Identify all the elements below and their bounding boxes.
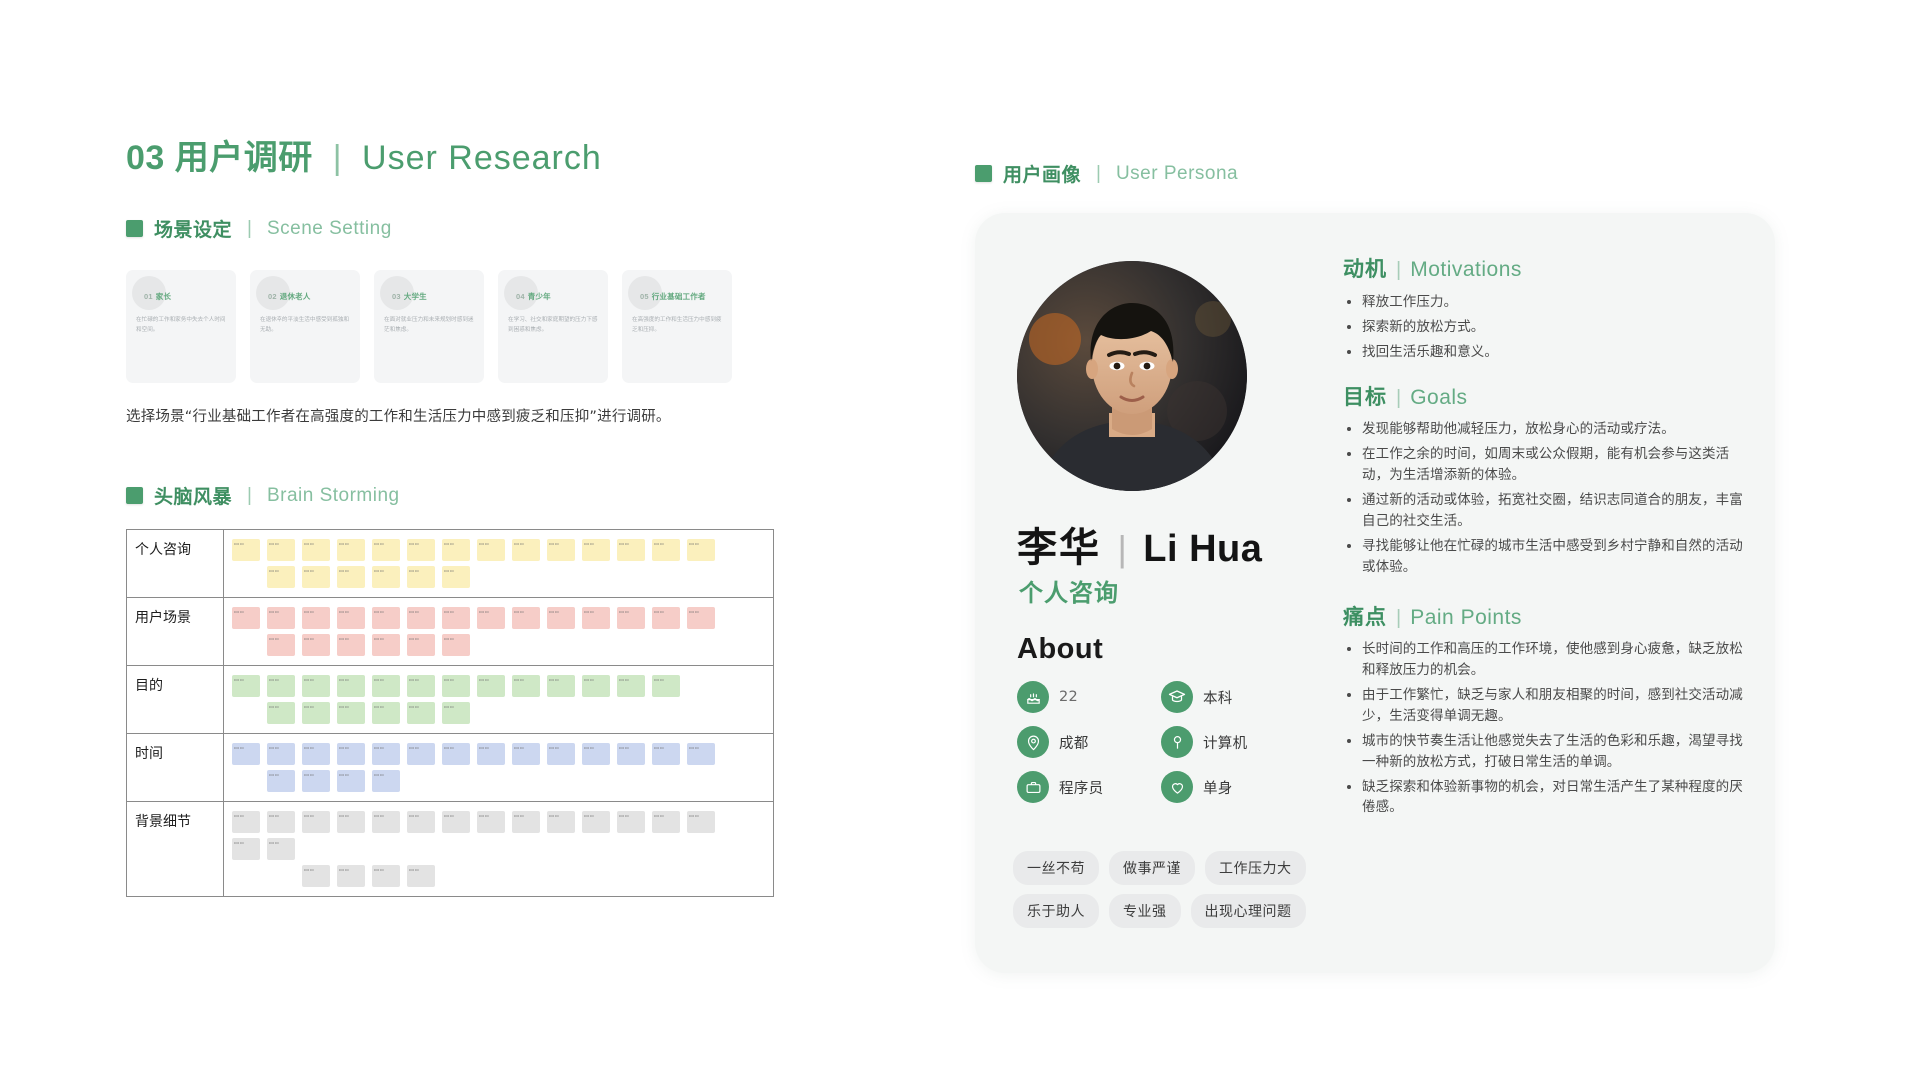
scene-card-title: 03大学生 <box>392 291 474 302</box>
scene-card-number: 03 <box>392 292 401 301</box>
sticky-note[interactable]: •••• ••• <box>372 811 400 833</box>
list-item: 城市的快节奏生活让他感觉失去了生活的色彩和乐趣，渴望寻找一种新的放松方式，打破日… <box>1362 731 1743 773</box>
sticky-note[interactable]: •••• ••• <box>232 838 260 860</box>
sticky-note[interactable]: •••• ••• <box>687 607 715 629</box>
sticky-note[interactable]: •••• ••• <box>407 702 435 724</box>
square-bullet-icon <box>126 220 143 237</box>
motivations-heading: 动机 | Motivations <box>1343 253 1743 283</box>
sticky-note-rows: •••• ••••••• ••••••• ••••••• ••••••• •••… <box>232 743 765 792</box>
about-item: 单身 <box>1161 771 1291 803</box>
scene-section-title-cn: 场景设定 <box>154 215 232 242</box>
pain-points-separator: | <box>1396 607 1401 630</box>
scene-card-description: 在高强度的工作和生活压力中感到疲乏和压抑。 <box>632 316 722 334</box>
sticky-note[interactable]: •••• ••• <box>617 539 645 561</box>
list-item: 由于工作繁忙，缺乏与家人和朋友相聚的时间，感到社交活动减少，生活变得单调无趣。 <box>1362 685 1743 727</box>
sticky-note[interactable]: •••• ••• <box>582 607 610 629</box>
sticky-note[interactable]: •••• ••• <box>477 743 505 765</box>
persona-card: 李华 | Li Hua 个人咨询 About 22本科成都计算机程序员单身 一丝… <box>975 213 1775 973</box>
brainstorm-row-label: 目的 <box>127 666 224 734</box>
sticky-note[interactable]: •••• ••• <box>442 607 470 629</box>
persona-tag[interactable]: 做事严谨 <box>1109 851 1195 885</box>
persona-tag[interactable]: 专业强 <box>1109 894 1181 928</box>
persona-name-en: Li Hua <box>1143 528 1262 570</box>
sticky-note[interactable]: •••• ••• <box>652 607 680 629</box>
table-row: 时间•••• ••••••• ••••••• ••••••• ••••••• •… <box>127 734 774 802</box>
square-bullet-icon <box>126 487 143 504</box>
sticky-note[interactable]: •••• ••• <box>582 675 610 697</box>
sticky-note[interactable]: •••• ••• <box>302 770 330 792</box>
sticky-note[interactable]: •••• ••• <box>407 865 435 887</box>
scene-card-01[interactable]: 01家长在忙碌的工作和家务中失去个人时间和空间。 <box>126 270 236 383</box>
location-pin-icon <box>1017 726 1049 758</box>
sticky-note[interactable]: •••• ••• <box>582 743 610 765</box>
about-item: 程序员 <box>1017 771 1147 803</box>
table-row: 目的•••• ••••••• ••••••• ••••••• ••••••• •… <box>127 666 774 734</box>
sticky-note[interactable]: •••• ••• <box>337 811 365 833</box>
sticky-note[interactable]: •••• ••• <box>407 539 435 561</box>
section-heading-brain-storming: 头脑风暴 | Brain Storming <box>126 482 786 509</box>
about-item: 成都 <box>1017 726 1147 758</box>
map-marker-icon <box>1161 726 1193 758</box>
sticky-note[interactable]: •••• ••• <box>372 539 400 561</box>
sticky-note[interactable]: •••• ••• <box>512 811 540 833</box>
page-title-separator: | <box>333 139 342 177</box>
brainstorm-row-label: 个人咨询 <box>127 530 224 598</box>
sticky-note-row: •••• ••••••• ••••••• ••••••• ••••••• •••… <box>232 607 765 629</box>
sticky-note[interactable]: •••• ••• <box>267 770 295 792</box>
scene-card-04[interactable]: 04青少年在学习、社交和家庭期望的压力下感到困惑和焦虑。 <box>498 270 608 383</box>
persona-name-separator: | <box>1117 528 1126 569</box>
brainstorm-note-cell: •••• ••••••• ••••••• ••••••• ••••••• •••… <box>224 530 774 598</box>
sticky-note[interactable]: •••• ••• <box>442 566 470 588</box>
page-title-en: User Research <box>362 139 602 177</box>
sticky-note[interactable]: •••• ••• <box>442 634 470 656</box>
sticky-note[interactable]: •••• ••• <box>372 770 400 792</box>
brain-section-separator: | <box>247 485 252 507</box>
list-item: 释放工作压力。 <box>1362 291 1743 314</box>
page-title-number: 03 <box>126 139 165 177</box>
scene-card-number: 04 <box>516 292 525 301</box>
goals-title-cn: 目标 <box>1343 381 1387 411</box>
sticky-note[interactable]: •••• ••• <box>407 566 435 588</box>
about-item-value: 22 <box>1059 689 1078 705</box>
list-item: 长时间的工作和高压的工作环境，使他感到身心疲惫，缺乏放松和释放压力的机会。 <box>1362 639 1743 681</box>
persona-role: 个人咨询 <box>1019 573 1119 608</box>
scene-card-description: 在退休후的平淡生活中感受到孤独和无助。 <box>260 316 350 334</box>
sticky-note[interactable]: •••• ••• <box>337 865 365 887</box>
sticky-note-row: •••• ••••••• ••• <box>232 838 765 860</box>
sticky-note[interactable]: •••• ••• <box>687 743 715 765</box>
sticky-note[interactable]: •••• ••• <box>582 811 610 833</box>
sticky-note[interactable]: •••• ••• <box>337 566 365 588</box>
sticky-note[interactable]: •••• ••• <box>302 607 330 629</box>
sticky-note[interactable]: •••• ••• <box>267 702 295 724</box>
sticky-note[interactable]: •••• ••• <box>302 743 330 765</box>
sticky-note[interactable]: •••• ••• <box>267 743 295 765</box>
sticky-note[interactable]: •••• ••• <box>337 607 365 629</box>
sticky-note[interactable]: •••• ••• <box>407 675 435 697</box>
about-item: 计算机 <box>1161 726 1291 758</box>
sticky-note[interactable]: •••• ••• <box>302 634 330 656</box>
briefcase-icon <box>1017 771 1049 803</box>
heart-icon <box>1161 771 1193 803</box>
sticky-note[interactable]: •••• ••• <box>337 743 365 765</box>
sticky-note-rows: •••• ••••••• ••••••• ••••••• ••••••• •••… <box>232 675 765 724</box>
scene-card-number: 02 <box>268 292 277 301</box>
about-attribute-grid: 22本科成都计算机程序员单身 <box>1017 681 1317 803</box>
sticky-note[interactable]: •••• ••• <box>267 634 295 656</box>
scene-card-description: 在学习、社交和家庭期望的压力下感到困惑和焦虑。 <box>508 316 598 334</box>
about-item: 本科 <box>1161 681 1291 713</box>
pain-points-title-en: Pain Points <box>1410 606 1522 630</box>
table-row: 用户场景•••• ••••••• ••••••• ••••••• •••••••… <box>127 598 774 666</box>
scene-card-title: 05行业基础工作者 <box>640 291 722 302</box>
sticky-note[interactable]: •••• ••• <box>337 634 365 656</box>
sticky-note[interactable]: •••• ••• <box>442 743 470 765</box>
persona-section-separator: | <box>1096 163 1101 185</box>
persona-tag[interactable]: 出现心理问题 <box>1191 894 1306 928</box>
sticky-note[interactable]: •••• ••• <box>407 607 435 629</box>
sticky-note[interactable]: •••• ••• <box>512 539 540 561</box>
square-bullet-icon <box>975 165 992 182</box>
sticky-note[interactable]: •••• ••• <box>267 566 295 588</box>
motivations-block: 动机 | Motivations 释放工作压力。探索新的放松方式。找回生活乐趣和… <box>1343 253 1743 367</box>
page-title-cn: 用户调研 <box>175 139 313 177</box>
sticky-note-row: •••• ••••••• ••••••• ••••••• ••••••• •••… <box>232 566 765 588</box>
sticky-note[interactable]: •••• ••• <box>372 702 400 724</box>
brain-section-title-en: Brain Storming <box>267 485 400 507</box>
persona-name: 李华 | Li Hua <box>1017 515 1262 573</box>
cake-icon <box>1017 681 1049 713</box>
sticky-note[interactable]: •••• ••• <box>302 865 330 887</box>
sticky-note[interactable]: •••• ••• <box>337 539 365 561</box>
persona-tag[interactable]: 一丝不苟 <box>1013 851 1099 885</box>
goals-list: 发现能够帮助他减轻压力，放松身心的活动或疗法。在工作之余的时间，如周末或公众假期… <box>1343 419 1743 577</box>
list-item: 发现能够帮助他减轻压力，放松身心的活动或疗法。 <box>1362 419 1743 440</box>
sticky-note[interactable]: •••• ••• <box>617 811 645 833</box>
goals-title-en: Goals <box>1410 386 1467 410</box>
sticky-note[interactable]: •••• ••• <box>267 539 295 561</box>
sticky-note[interactable]: •••• ••• <box>652 539 680 561</box>
sticky-note[interactable]: •••• ••• <box>302 566 330 588</box>
persona-tag-list: 一丝不苟做事严谨工作压力大乐于助人专业强出现心理问题 <box>1013 851 1323 928</box>
persona-section-title-cn: 用户画像 <box>1003 160 1081 187</box>
sticky-note[interactable]: •••• ••• <box>442 539 470 561</box>
sticky-note[interactable]: •••• ••• <box>267 675 295 697</box>
list-item: 通过新的活动或体验，拓宽社交圈，结识志同道合的朋友，丰富自己的社交生活。 <box>1362 490 1743 532</box>
about-item-value: 成都 <box>1059 732 1089 753</box>
scene-card-03[interactable]: 03大学生在面对就业压力和未来规划时感到迷茫和焦虑。 <box>374 270 484 383</box>
sticky-note[interactable]: •••• ••• <box>582 539 610 561</box>
brainstorm-note-cell: •••• ••••••• ••••••• ••••••• ••••••• •••… <box>224 666 774 734</box>
goals-block: 目标 | Goals 发现能够帮助他减轻压力，放松身心的活动或疗法。在工作之余的… <box>1343 381 1743 581</box>
sticky-note[interactable]: •••• ••• <box>232 811 260 833</box>
brainstorm-note-cell: •••• ••••••• ••••••• ••••••• ••••••• •••… <box>224 598 774 666</box>
sticky-note[interactable]: •••• ••• <box>337 702 365 724</box>
persona-tag[interactable]: 工作压力大 <box>1205 851 1306 885</box>
sticky-note-row: •••• ••••••• ••••••• ••••••• ••••••• •••… <box>232 675 765 697</box>
motivations-separator: | <box>1396 259 1401 282</box>
section-heading-scene-setting: 场景设定 | Scene Setting <box>126 215 786 242</box>
sticky-note-rows: •••• ••••••• ••••••• ••••••• ••••••• •••… <box>232 539 765 588</box>
list-item: 寻找能够让他在忙碌的城市生活中感受到乡村宁静和自然的活动或体验。 <box>1362 536 1743 578</box>
sticky-note[interactable]: •••• ••• <box>547 675 575 697</box>
goals-heading: 目标 | Goals <box>1343 381 1743 411</box>
sticky-note[interactable]: •••• ••• <box>687 539 715 561</box>
brainstorm-row-label: 背景细节 <box>127 802 224 897</box>
scene-card-number: 05 <box>640 292 649 301</box>
about-item-value: 程序员 <box>1059 777 1103 798</box>
brainstorm-note-cell: •••• ••••••• ••••••• ••••••• ••••••• •••… <box>224 802 774 897</box>
sticky-note[interactable]: •••• ••• <box>477 811 505 833</box>
sticky-note[interactable]: •••• ••• <box>512 743 540 765</box>
sticky-note-rows: •••• ••••••• ••••••• ••••••• ••••••• •••… <box>232 811 765 887</box>
sticky-note[interactable]: •••• ••• <box>442 811 470 833</box>
list-item: 探索新的放松方式。 <box>1362 316 1743 339</box>
sticky-note[interactable]: •••• ••• <box>547 607 575 629</box>
sticky-note[interactable]: •••• ••• <box>372 675 400 697</box>
sticky-note[interactable]: •••• ••• <box>302 811 330 833</box>
sticky-note[interactable]: •••• ••• <box>267 811 295 833</box>
sticky-note[interactable]: •••• ••• <box>302 539 330 561</box>
sticky-note[interactable]: •••• ••• <box>547 743 575 765</box>
sticky-note[interactable]: •••• ••• <box>477 607 505 629</box>
sticky-note[interactable]: •••• ••• <box>512 675 540 697</box>
brain-section-title-cn: 头脑风暴 <box>154 482 232 509</box>
table-row: 背景细节•••• ••••••• ••••••• ••••••• •••••••… <box>127 802 774 897</box>
sticky-note-rows: •••• ••••••• ••••••• ••••••• ••••••• •••… <box>232 607 765 656</box>
about-item-value: 单身 <box>1203 777 1233 798</box>
scene-card-description: 在面对就业压力和未来规划时感到迷茫和焦虑。 <box>384 316 474 334</box>
sticky-note[interactable]: •••• ••• <box>617 607 645 629</box>
scene-section-title-en: Scene Setting <box>267 218 392 240</box>
sticky-note[interactable]: •••• ••• <box>372 566 400 588</box>
pain-points-title-cn: 痛点 <box>1343 601 1387 631</box>
list-item: 在工作之余的时间，如周末或公众假期，能有机会参与这类活动，为生活增添新的体验。 <box>1362 444 1743 486</box>
sticky-note[interactable]: •••• ••• <box>407 634 435 656</box>
sticky-note[interactable]: •••• ••• <box>372 634 400 656</box>
left-column: 03 用户调研 | User Research 场景设定 | Scene Set… <box>126 140 786 897</box>
sticky-note[interactable]: •••• ••• <box>232 675 260 697</box>
scene-card-05[interactable]: 05行业基础工作者在高强度的工作和生活压力中感到疲乏和压抑。 <box>622 270 732 383</box>
sticky-note[interactable]: •••• ••• <box>232 743 260 765</box>
scene-card-title: 01家长 <box>144 291 226 302</box>
sticky-note[interactable]: •••• ••• <box>372 743 400 765</box>
sticky-note[interactable]: •••• ••• <box>372 865 400 887</box>
sticky-note[interactable]: •••• ••• <box>302 702 330 724</box>
about-item-value: 计算机 <box>1203 732 1247 753</box>
sticky-note[interactable]: •••• ••• <box>372 607 400 629</box>
section-heading-user-persona: 用户画像 | User Persona <box>975 160 1805 187</box>
list-item: 找回生活乐趣和意义。 <box>1362 341 1743 364</box>
scene-card-row: 01家长在忙碌的工作和家务中失去个人时间和空间。02退休老人在退休후的平淡生活中… <box>126 270 786 383</box>
persona-tag[interactable]: 乐于助人 <box>1013 894 1099 928</box>
sticky-note[interactable]: •••• ••• <box>687 811 715 833</box>
graduation-cap-icon <box>1161 681 1193 713</box>
sticky-note[interactable]: •••• ••• <box>547 811 575 833</box>
pain-points-list: 长时间的工作和高压的工作环境，使他感到身心疲惫，缺乏放松和释放压力的机会。由于工… <box>1343 639 1743 818</box>
scene-caption: 选择场景“行业基础工作者在高强度的工作和生活压力中感到疲乏和压抑”进行调研。 <box>126 405 786 426</box>
sticky-note[interactable]: •••• ••• <box>477 539 505 561</box>
sticky-note[interactable]: •••• ••• <box>547 539 575 561</box>
brainstorm-row-label: 用户场景 <box>127 598 224 666</box>
persona-section-title-en: User Persona <box>1116 163 1238 185</box>
sticky-note[interactable]: •••• ••• <box>267 838 295 860</box>
sticky-note-row: •••• ••••••• ••••••• ••••••• ••••••• •••… <box>232 539 765 561</box>
sticky-note[interactable]: •••• ••• <box>652 675 680 697</box>
sticky-note[interactable]: •••• ••• <box>652 743 680 765</box>
sticky-note[interactable]: •••• ••• <box>232 607 260 629</box>
about-item-value: 本科 <box>1203 687 1233 708</box>
sticky-note[interactable]: •••• ••• <box>477 675 505 697</box>
sticky-note[interactable]: •••• ••• <box>302 675 330 697</box>
page-title: 03 用户调研 | User Research <box>126 140 786 177</box>
avatar <box>1017 261 1247 491</box>
sticky-note[interactable]: •••• ••• <box>337 770 365 792</box>
sticky-note[interactable]: •••• ••• <box>337 675 365 697</box>
sticky-note-row: •••• ••••••• ••••••• ••••••• ••• <box>232 865 765 887</box>
motivations-title-cn: 动机 <box>1343 253 1387 283</box>
sticky-note[interactable]: •••• ••• <box>442 702 470 724</box>
sticky-note[interactable]: •••• ••• <box>512 607 540 629</box>
scene-card-description: 在忙碌的工作和家务中失去个人时间和空间。 <box>136 316 226 334</box>
sticky-note[interactable]: •••• ••• <box>442 675 470 697</box>
sticky-note-row: •••• ••••••• ••••••• ••••••• ••••••• •••… <box>232 702 765 724</box>
goals-separator: | <box>1396 387 1401 410</box>
avatar-portrait <box>1017 261 1247 491</box>
scene-card-number: 01 <box>144 292 153 301</box>
sticky-note[interactable]: •••• ••• <box>407 811 435 833</box>
sticky-note-row: •••• ••••••• ••••••• ••••••• ••• <box>232 770 765 792</box>
sticky-note-row: •••• ••••••• ••••••• ••••••• ••••••• •••… <box>232 743 765 765</box>
right-column: 用户画像 | User Persona <box>975 160 1805 973</box>
motivations-list: 释放工作压力。探索新的放松方式。找回生活乐趣和意义。 <box>1343 291 1743 365</box>
brainstorm-table: 个人咨询•••• ••••••• ••••••• ••••••• •••••••… <box>126 529 774 897</box>
scene-card-title: 02退休老人 <box>268 291 350 302</box>
sticky-note[interactable]: •••• ••• <box>232 539 260 561</box>
about-heading: About <box>1017 633 1103 666</box>
brainstorm-note-cell: •••• ••••••• ••••••• ••••••• ••••••• •••… <box>224 734 774 802</box>
slide-canvas: 03 用户调研 | User Research 场景设定 | Scene Set… <box>0 0 1921 1081</box>
motivations-title-en: Motivations <box>1410 258 1522 282</box>
pain-points-heading: 痛点 | Pain Points <box>1343 601 1743 631</box>
sticky-note-row: •••• ••••••• ••••••• ••••••• ••••••• •••… <box>232 634 765 656</box>
sticky-note[interactable]: •••• ••• <box>267 607 295 629</box>
scene-card-02[interactable]: 02退休老人在退休후的平淡生活中感受到孤独和无助。 <box>250 270 360 383</box>
sticky-note[interactable]: •••• ••• <box>617 675 645 697</box>
sticky-note[interactable]: •••• ••• <box>652 811 680 833</box>
sticky-note[interactable]: •••• ••• <box>617 743 645 765</box>
table-row: 个人咨询•••• ••••••• ••••••• ••••••• •••••••… <box>127 530 774 598</box>
pain-points-block: 痛点 | Pain Points 长时间的工作和高压的工作环境，使他感到身心疲惫… <box>1343 601 1743 822</box>
scene-card-title: 04青少年 <box>516 291 598 302</box>
scene-section-separator: | <box>247 218 252 240</box>
about-item: 22 <box>1017 681 1147 713</box>
list-item: 缺乏探索和体验新事物的机会，对日常生活产生了某种程度的厌倦感。 <box>1362 777 1743 819</box>
sticky-note-row: •••• ••••••• ••••••• ••••••• ••••••• •••… <box>232 811 765 833</box>
persona-name-cn: 李华 <box>1017 525 1101 571</box>
sticky-note[interactable]: •••• ••• <box>407 743 435 765</box>
brainstorm-row-label: 时间 <box>127 734 224 802</box>
